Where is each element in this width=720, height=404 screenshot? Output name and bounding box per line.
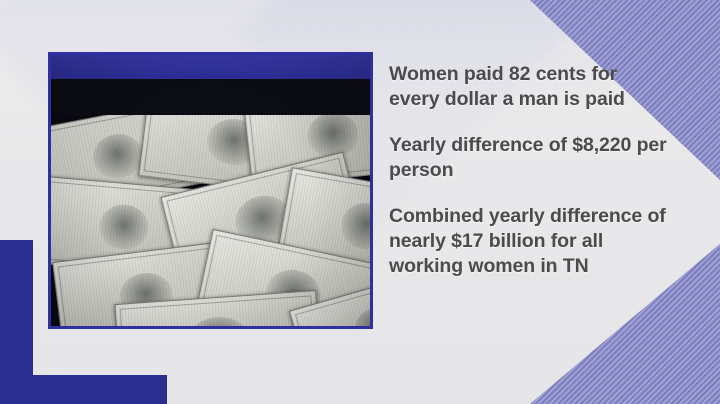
fact-item-2: Yearly difference of $8,220 per person — [389, 133, 671, 183]
photo-dark-upper-area — [51, 75, 370, 115]
fact-item-1: Women paid 82 cents for every dollar a m… — [389, 62, 671, 112]
news-graphic-screen: Women paid 82 cents for every dollar a m… — [0, 0, 720, 404]
fact-item-3: Combined yearly difference of nearly $17… — [389, 204, 671, 279]
blue-bracket-horizontal-bar — [0, 375, 167, 404]
fact-list: Women paid 82 cents for every dollar a m… — [389, 62, 671, 279]
photo-blue-top-band — [51, 55, 370, 79]
currency-photo-frame — [48, 52, 373, 329]
